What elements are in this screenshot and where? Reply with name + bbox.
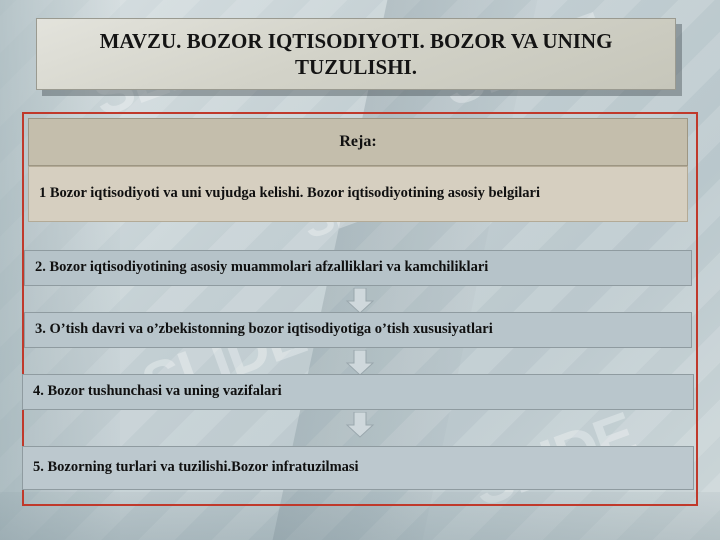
title-box: MAVZU. BOZOR IQTISODIYOTI. BOZOR VA UNIN… <box>36 18 676 90</box>
plan-header-box: Reja: <box>28 118 688 166</box>
arrow-down-icon <box>345 412 375 438</box>
list-item-label: 5. Bozorning turlari va tuzilishi.Bozor … <box>33 458 683 478</box>
arrow-down-icon <box>345 288 375 314</box>
list-item: 3. O’tish davri va o’zbekistonning bozor… <box>24 312 692 348</box>
list-item-label: 4. Bozor tushunchasi va uning vazifalari <box>33 382 683 402</box>
plan-header-label: Reja: <box>339 133 376 151</box>
arrow-down-icon <box>345 350 375 376</box>
page-title: MAVZU. BOZOR IQTISODIYOTI. BOZOR VA UNIN… <box>37 28 675 81</box>
list-item: 5. Bozorning turlari va tuzilishi.Bozor … <box>22 446 694 490</box>
list-item: 4. Bozor tushunchasi va uning vazifalari <box>22 374 694 410</box>
list-item-label: 2. Bozor iqtisodiyotining asosiy muammol… <box>35 258 681 278</box>
list-item: 1 Bozor iqtisodiyoti va uni vujudga keli… <box>28 166 688 222</box>
list-item: 2. Bozor iqtisodiyotining asosiy muammol… <box>24 250 692 286</box>
slide: SLIDE SLIDE SLIDE SLIDE SLIDE MAVZU. BOZ… <box>0 0 720 540</box>
list-item-label: 1 Bozor iqtisodiyoti va uni vujudga keli… <box>39 184 677 204</box>
list-item-label: 3. O’tish davri va o’zbekistonning bozor… <box>35 320 681 340</box>
